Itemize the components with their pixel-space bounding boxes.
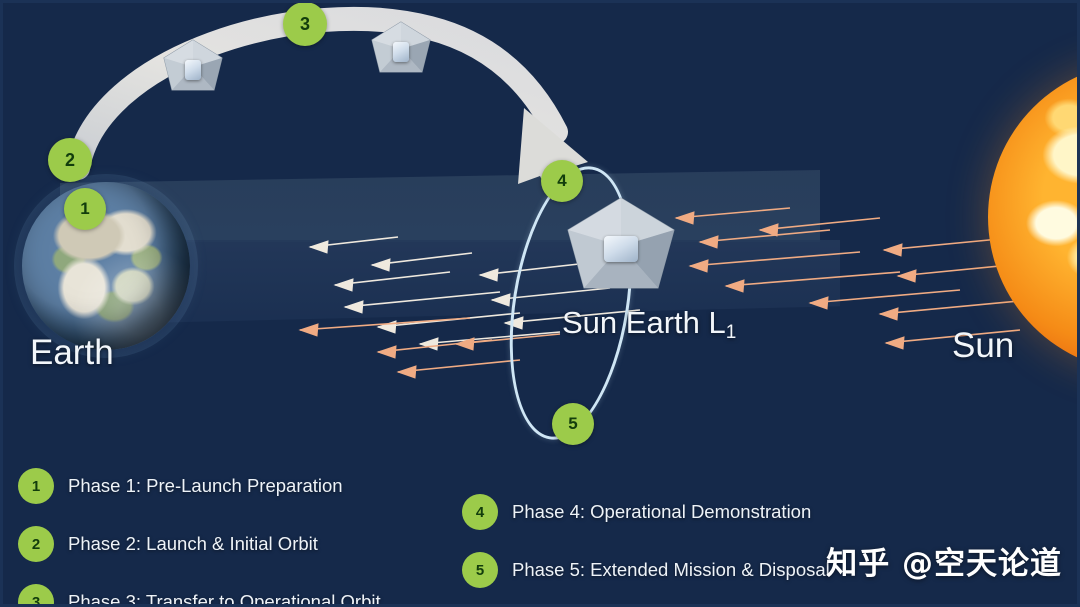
legend-label: Phase 1: Pre-Launch Preparation bbox=[68, 475, 343, 497]
spacecraft-at-l1 bbox=[560, 192, 682, 300]
legend-item[interactable]: 5 Phase 5: Extended Mission & Disposal bbox=[462, 552, 830, 588]
lagrange-label-subscript: 1 bbox=[726, 322, 737, 343]
legend-label: Phase 5: Extended Mission & Disposal bbox=[512, 559, 830, 581]
legend-column-right: 4 Phase 4: Operational Demonstration 5 P… bbox=[462, 494, 830, 607]
lagrange-label-main: Sun Earth L bbox=[562, 305, 726, 340]
legend-marker: 2 bbox=[18, 526, 54, 562]
marker-phase-5[interactable]: 5 bbox=[552, 403, 594, 445]
legend-marker: 4 bbox=[462, 494, 498, 530]
earth-body bbox=[22, 182, 190, 350]
legend-marker: 3 bbox=[18, 584, 54, 607]
lagrange-point-label: Sun Earth L1 bbox=[562, 305, 736, 341]
legend-label: Phase 2: Launch & Initial Orbit bbox=[68, 533, 318, 555]
legend-item[interactable]: 4 Phase 4: Operational Demonstration bbox=[462, 494, 830, 530]
marker-phase-1[interactable]: 1 bbox=[64, 188, 106, 230]
spacecraft-transfer-1 bbox=[158, 36, 228, 98]
legend-label: Phase 4: Operational Demonstration bbox=[512, 501, 811, 523]
marker-phase-3[interactable]: 3 bbox=[283, 2, 327, 46]
legend-marker: 1 bbox=[18, 468, 54, 504]
marker-phase-2[interactable]: 2 bbox=[48, 138, 92, 182]
spacecraft-bus bbox=[393, 42, 409, 62]
watermark: 知乎 @空天论道 bbox=[826, 538, 1062, 583]
spacecraft-bus bbox=[185, 60, 201, 80]
sun-label: Sun bbox=[952, 326, 1014, 366]
diagram-canvas: 1 2 3 4 5 Earth Sun Sun Earth L1 1 Phase… bbox=[0, 0, 1080, 607]
legend-marker: 5 bbox=[462, 552, 498, 588]
earth-sphere bbox=[22, 182, 190, 350]
legend-column-left: 1 Phase 1: Pre-Launch Preparation 2 Phas… bbox=[18, 468, 381, 607]
spacecraft-transfer-2 bbox=[366, 18, 436, 80]
spacecraft-bus bbox=[604, 236, 638, 262]
legend-item[interactable]: 2 Phase 2: Launch & Initial Orbit bbox=[18, 526, 381, 562]
legend-item[interactable]: 1 Phase 1: Pre-Launch Preparation bbox=[18, 468, 381, 504]
marker-phase-4[interactable]: 4 bbox=[541, 160, 583, 202]
legend-label: Phase 3: Transfer to Operational Orbit bbox=[68, 591, 381, 607]
legend-item[interactable]: 3 Phase 3: Transfer to Operational Orbit bbox=[18, 584, 381, 607]
earth-label: Earth bbox=[30, 333, 114, 373]
